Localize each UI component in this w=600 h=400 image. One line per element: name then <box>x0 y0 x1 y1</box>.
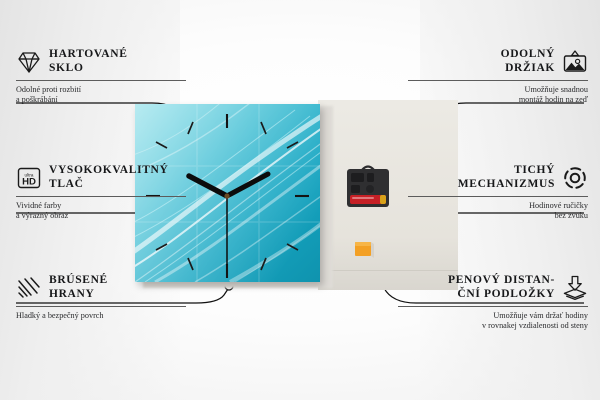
feature-foam-spacers: PENOVÝ DISTAN- ČNÍ PODLOŽKY Umožňuje vám… <box>398 274 588 331</box>
diagonal-lines-icon <box>16 275 42 301</box>
feature-title-line-1: ODOLNÝ <box>501 48 555 62</box>
feature-header: PENOVÝ DISTAN- ČNÍ PODLOŽKY <box>398 274 588 301</box>
feature-divider <box>408 196 588 197</box>
feature-header: BRÚSENÉ HRANY <box>16 274 186 301</box>
gear-icon <box>562 165 588 191</box>
foam-spacer-pad <box>354 240 376 260</box>
clock-mechanism <box>340 162 396 222</box>
feature-title-line-2: TLAČ <box>49 178 168 192</box>
feature-title-line-1: BRÚSENÉ <box>49 274 108 288</box>
feature-description-line-1: Vividné farby <box>16 201 186 211</box>
feature-description: Umožňuje vám držať hodiny v rovnakej vzd… <box>398 311 588 331</box>
feature-tempered-glass: HARTOVANÉ SKLO Odolné proti rozbití a po… <box>16 48 186 105</box>
ultra-hd-badge-icon: ultra HD <box>16 165 42 191</box>
feature-title-line-2: SKLO <box>49 62 128 76</box>
feature-title-line-1: TICHÝ <box>458 164 555 178</box>
feature-title-line-1: HARTOVANÉ <box>49 48 128 62</box>
feature-description-line-1: Umožňuje vám držať hodiny <box>398 311 588 321</box>
feature-title-line-2: HRANY <box>49 288 108 302</box>
feature-description-line-2: v rovnakej vzdialenosti od steny <box>398 321 588 331</box>
feature-title: VYSOKOKVALITNÝ TLAČ <box>49 164 168 191</box>
diamond-icon <box>16 49 42 75</box>
feature-polished-edges: BRÚSENÉ HRANY Hladký a bezpečný povrch <box>16 274 186 321</box>
feature-description-line-2: a výrazný obraz <box>16 211 186 221</box>
feature-description-line-1: Hladký a bezpečný povrch <box>16 311 186 321</box>
feature-title: TICHÝ MECHANIZMUS <box>458 164 555 191</box>
feature-header: TICHÝ MECHANIZMUS <box>408 164 588 191</box>
feature-hd-print: ultra HD VYSOKOKVALITNÝ TLAČ Vividné far… <box>16 164 186 221</box>
feature-title-line-1: VYSOKOKVALITNÝ <box>49 164 168 178</box>
feature-description-line-1: Hodinové ručičky <box>408 201 588 211</box>
infographic-stage: HARTOVANÉ SKLO Odolné proti rozbití a po… <box>0 0 600 400</box>
feature-divider <box>16 80 186 81</box>
feature-description-line-1: Odolné proti rozbití <box>16 85 186 95</box>
feature-durable-hanger: ODOLNÝ DRŽIAK Umožňuje snadnou montáž ho… <box>408 48 588 105</box>
feature-header: ODOLNÝ DRŽIAK <box>408 48 588 75</box>
framed-picture-hanger-icon <box>562 49 588 75</box>
feature-title-line-2: MECHANIZMUS <box>458 178 555 192</box>
hd-label: HD <box>22 176 36 187</box>
feature-header: ultra HD VYSOKOKVALITNÝ TLAČ <box>16 164 186 191</box>
feature-title: PENOVÝ DISTAN- ČNÍ PODLOŽKY <box>448 274 555 301</box>
feature-description-line-2: montáž hodin na zeď <box>408 95 588 105</box>
feature-divider <box>398 306 588 307</box>
feature-divider <box>16 306 186 307</box>
feature-divider <box>16 196 186 197</box>
feature-description: Umožňuje snadnou montáž hodin na zeď <box>408 85 588 105</box>
feature-description-line-2: a poškrábání <box>16 95 186 105</box>
feature-divider <box>408 80 588 81</box>
feature-header: HARTOVANÉ SKLO <box>16 48 186 75</box>
feature-description: Hodinové ručičky bez zvuku <box>408 201 588 221</box>
feature-description: Hladký a bezpečný povrch <box>16 311 186 321</box>
feature-title: HARTOVANÉ SKLO <box>49 48 128 75</box>
feature-title-line-2: DRŽIAK <box>501 62 555 76</box>
feature-title: ODOLNÝ DRŽIAK <box>501 48 555 75</box>
feature-title-line-2: ČNÍ PODLOŽKY <box>448 288 555 302</box>
shelf-edge-line <box>318 270 458 271</box>
feature-title-line-1: PENOVÝ DISTAN- <box>448 274 555 288</box>
feature-description: Vividné farby a výrazný obraz <box>16 201 186 221</box>
arrow-onto-stack-icon <box>562 275 588 301</box>
feature-title: BRÚSENÉ HRANY <box>49 274 108 301</box>
feature-description-line-1: Umožňuje snadnou <box>408 85 588 95</box>
feature-description: Odolné proti rozbití a poškrábání <box>16 85 186 105</box>
feature-silent-mechanism: TICHÝ MECHANIZMUS Hodinové ručičky bez z… <box>408 164 588 221</box>
feature-description-line-2: bez zvuku <box>408 211 588 221</box>
